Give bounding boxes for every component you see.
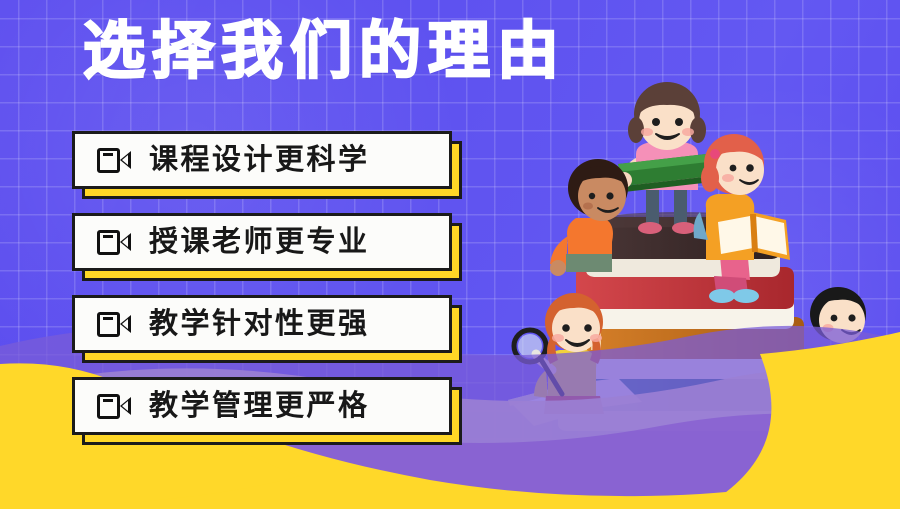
feature-label: 课程设计更科学 xyxy=(149,146,370,175)
feature-item-4[interactable]: 教学管理更严格 xyxy=(72,377,452,435)
feature-item-3[interactable]: 教学针对性更强 xyxy=(72,295,452,353)
open-book-orange xyxy=(714,212,790,260)
video-camera-icon xyxy=(97,312,131,337)
feature-card[interactable]: 课程设计更科学 xyxy=(72,131,452,189)
feature-list: 课程设计更科学 授课老师更专业 教学针对性更强 xyxy=(72,131,452,435)
video-camera-icon xyxy=(97,230,131,255)
feature-card[interactable]: 教学针对性更强 xyxy=(72,295,452,353)
video-camera-icon xyxy=(97,148,131,173)
page-title: 选择我们的理由 xyxy=(0,18,900,86)
feature-label: 教学管理更严格 xyxy=(149,392,370,421)
feature-label: 教学针对性更强 xyxy=(149,310,370,339)
feature-item-1[interactable]: 课程设计更科学 xyxy=(72,131,452,189)
feature-card[interactable]: 授课老师更专业 xyxy=(72,213,452,271)
feature-item-2[interactable]: 授课老师更专业 xyxy=(72,213,452,271)
promo-banner: 选择我们的理由 课程设计更科学 授课老师更专业 xyxy=(0,0,900,509)
feature-card[interactable]: 教学管理更严格 xyxy=(72,377,452,435)
video-camera-icon xyxy=(97,394,131,419)
feature-label: 授课老师更专业 xyxy=(149,228,370,257)
